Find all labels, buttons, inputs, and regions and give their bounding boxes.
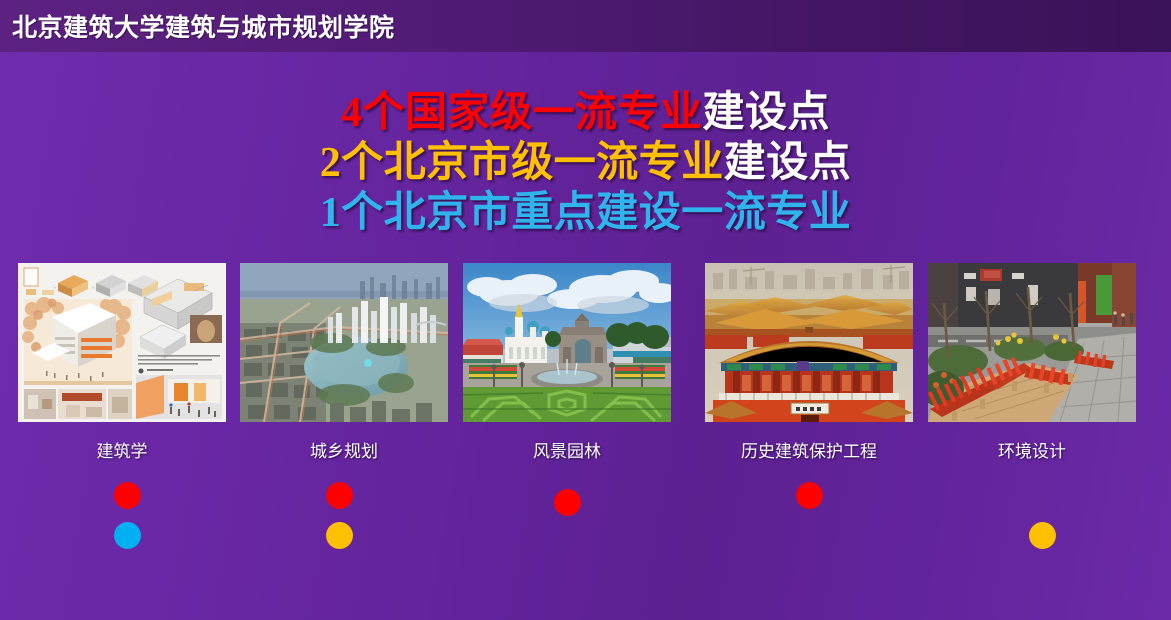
forbidden-city-heritage-image <box>705 263 913 422</box>
headline-line-1: 4个国家级一流专业建设点 <box>0 88 1171 138</box>
headline-line-1-tail: 建设点 <box>703 90 831 136</box>
program-label-urban-planning: 城乡规划 <box>240 437 448 462</box>
headline-line-2-tail: 建设点 <box>724 140 852 186</box>
architecture-national-first-class-dot <box>114 482 141 509</box>
program-image-row: + + <box>0 263 1171 423</box>
program-label-architecture: 建筑学 <box>18 437 226 462</box>
headline-block: 4个国家级一流专业建设点 2个北京市级一流专业建设点 1个北京市重点建设一流专业 <box>0 88 1171 238</box>
headline-line-3: 1个北京市重点建设一流专业 <box>0 188 1171 238</box>
headline-line-2-highlight: 2个北京市级一流专业 <box>320 140 724 186</box>
school-name-title: 北京建筑大学建筑与城市规划学院 <box>0 8 395 44</box>
architecture-design-board-image: + + <box>18 263 226 422</box>
urban-planning-aerial-image <box>240 263 448 422</box>
slide-header-bar: 北京建筑大学建筑与城市规划学院 <box>0 0 1171 52</box>
program-status-dot-row <box>0 470 1171 580</box>
landscape-garden-image <box>463 263 671 422</box>
landscape-national-first-class-dot <box>554 489 581 516</box>
program-label-row: 建筑学 城乡规划 风景园林 历史建筑保护工程 环境设计 <box>0 437 1171 465</box>
program-label-environment-design: 环境设计 <box>928 437 1136 462</box>
program-label-landscape: 风景园林 <box>463 437 671 462</box>
headline-line-1-highlight: 4个国家级一流专业 <box>341 90 703 136</box>
program-label-heritage: 历史建筑保护工程 <box>705 437 913 462</box>
environment-design-beijing-municipal-dot <box>1029 522 1056 549</box>
street-furniture-design-image <box>928 263 1136 422</box>
architecture-beijing-key-program-dot <box>114 522 141 549</box>
headline-line-3-highlight: 1个北京市重点建设一流专业 <box>320 190 852 236</box>
urban-planning-national-first-class-dot <box>326 482 353 509</box>
headline-line-2: 2个北京市级一流专业建设点 <box>0 138 1171 188</box>
urban-planning-beijing-municipal-dot <box>326 522 353 549</box>
heritage-national-first-class-dot <box>796 482 823 509</box>
